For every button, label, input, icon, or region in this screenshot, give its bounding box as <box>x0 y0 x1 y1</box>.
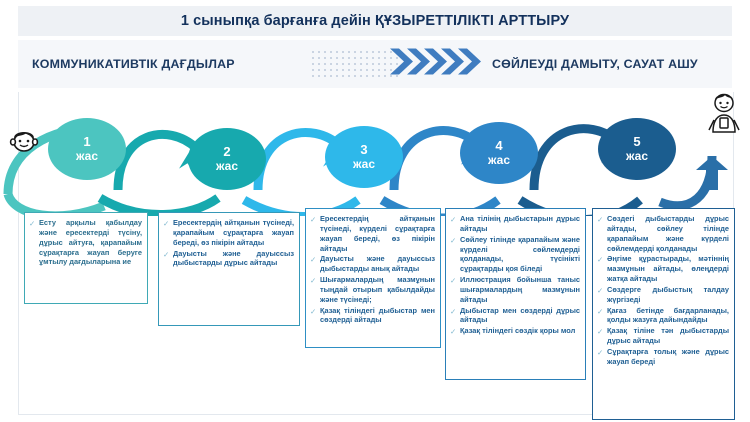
stage-number: 4 <box>495 139 502 154</box>
list-item: ✓ Сұрақтарға толық және дұрыс жауап бере… <box>597 347 729 367</box>
check-tick-icon: ✓ <box>29 219 37 228</box>
bullet-text: Дыбыстар мен сөздерді дұрыс айтады <box>460 306 580 326</box>
check-tick-icon: ✓ <box>597 348 605 357</box>
list-item: ✓ Есту арқылы қабылдау және ересектерді … <box>29 218 142 267</box>
check-tick-icon: ✓ <box>310 255 318 264</box>
check-tick-icon: ✓ <box>597 255 605 264</box>
check-tick-icon: ✓ <box>163 219 171 228</box>
check-tick-icon: ✓ <box>163 250 171 259</box>
stage-circle-5: 5 жас <box>598 118 676 180</box>
subtitle-bar: КОММУНИКАТИВТІК ДАҒДЫЛАР СӨЙЛЕУДІ ДАМЫТУ… <box>18 40 732 88</box>
bullet-text: Қағаз бетінде бағдарланады, қолды жазуға… <box>607 306 729 326</box>
bullet-text: Ересектердің айтқанын түсінеді, күрделі … <box>320 214 435 253</box>
stage-unit: жас <box>76 150 98 164</box>
check-tick-icon: ✓ <box>597 307 605 316</box>
stage-circle-1: 1 жас <box>48 118 126 180</box>
stage-number: 2 <box>223 145 230 160</box>
stage-detail-box-5: ✓ Сөздегі дыбыстарды дұрыс айтады, сөйле… <box>592 208 735 420</box>
bullet-text: Сұрақтарға толық және дұрыс жауап береді <box>607 347 729 367</box>
stage-number: 5 <box>633 135 640 150</box>
list-item: ✓ Ересектердің айтқанын түсінеді, қарапа… <box>163 218 294 248</box>
check-tick-icon: ✓ <box>310 276 318 285</box>
bullet-text: Ана тілінің дыбыстарын дұрыс айтады <box>460 214 580 234</box>
list-item: ✓ Шығармалардың мазмұнын тыңдай отырып қ… <box>310 275 435 305</box>
bullet-text: Иллюстрация бойынша таныс шығармалардың … <box>460 275 580 305</box>
subtitle-left-label: КОММУНИКАТИВТІК ДАҒДЫЛАР <box>32 57 235 71</box>
bullet-text: Қазақ тіліндегі сөздік қоры мол <box>460 326 580 336</box>
chevron-right-icon <box>390 47 490 82</box>
bullet-text: Сөйлеу тілінде қарапайым және күрделі сө… <box>460 235 580 274</box>
bullet-text: Дауысты және дауыссыз дыбыстарды анық ай… <box>320 254 435 274</box>
child-face-icon <box>6 122 42 163</box>
bullet-text: Сөздегі дыбыстарды дұрыс айтады, сөйлеу … <box>607 214 729 253</box>
check-tick-icon: ✓ <box>597 327 605 336</box>
list-item: ✓ Дауысты және дауыссыз дыбыстарды анық … <box>310 254 435 274</box>
stage-detail-box-3: ✓ Ересектердің айтқанын түсінеді, күрдел… <box>305 208 441 348</box>
stage-circle-2: 2 жас <box>188 128 266 190</box>
bullet-text: Есту арқылы қабылдау және ересектерді тү… <box>39 218 142 267</box>
page-title: 1 сыныпқа барғанға дейін ҚҰЗЫРЕТТІЛІКТІ … <box>181 13 569 29</box>
check-tick-icon: ✓ <box>450 307 458 316</box>
bullet-text: Әңгіме құрастырады, мәтіннің мазмұнын ай… <box>607 254 729 284</box>
stage-number: 3 <box>360 143 367 158</box>
infographic-canvas: 1 сыныпқа барғанға дейін ҚҰЗЫРЕТТІЛІКТІ … <box>0 0 750 422</box>
list-item: ✓ Сөйлеу тілінде қарапайым және күрделі … <box>450 235 580 274</box>
bullet-text: Ересектердің айтқанын түсінеді, қарапайы… <box>173 218 294 248</box>
bullet-text: Шығармалардың мазмұнын тыңдай отырып қаб… <box>320 275 435 305</box>
list-item: ✓ Қазақ тіліндегі сөздік қоры мол <box>450 326 580 336</box>
list-item: ✓ Иллюстрация бойынша таныс шығармаларды… <box>450 275 580 305</box>
check-tick-icon: ✓ <box>597 215 605 224</box>
check-tick-icon: ✓ <box>450 327 458 336</box>
check-tick-icon: ✓ <box>450 236 458 245</box>
subtitle-right-label: СӨЙЛЕУДІ ДАМЫТУ, САУАТ АШУ <box>492 57 698 71</box>
list-item: ✓ Қазақ тіліне тән дыбыстарды дұрыс айта… <box>597 326 729 346</box>
list-item: ✓ Сөздегі дыбыстарды дұрыс айтады, сөйле… <box>597 214 729 253</box>
list-item: ✓ Ана тілінің дыбыстарын дұрыс айтады <box>450 214 580 234</box>
schoolchild-icon <box>704 90 744 139</box>
stage-number: 1 <box>83 135 90 150</box>
stage-detail-box-2: ✓ Ересектердің айтқанын түсінеді, қарапа… <box>158 212 300 326</box>
list-item: ✓ Дауысты және дауыссыз дыбыстарды дұрыс… <box>163 249 294 269</box>
list-item: ✓ Қағаз бетінде бағдарланады, қолды жазу… <box>597 306 729 326</box>
stage-unit: жас <box>216 160 238 174</box>
check-tick-icon: ✓ <box>597 286 605 295</box>
stage-unit: жас <box>488 154 510 168</box>
check-tick-icon: ✓ <box>450 276 458 285</box>
stage-circle-3: 3 жас <box>325 126 403 188</box>
stage-unit: жас <box>626 150 648 164</box>
bullet-text: Қазақ тіліндегі дыбыстар мен сөздерді ай… <box>320 306 435 326</box>
check-tick-icon: ✓ <box>450 215 458 224</box>
list-item: ✓ Сөздерге дыбыстық талдау жүргізеді <box>597 285 729 305</box>
check-tick-icon: ✓ <box>310 307 318 316</box>
title-bar: 1 сыныпқа барғанға дейін ҚҰЗЫРЕТТІЛІКТІ … <box>18 6 732 36</box>
list-item: ✓ Қазақ тіліндегі дыбыстар мен сөздерді … <box>310 306 435 326</box>
dot-pattern-decoration <box>310 49 398 79</box>
stage-detail-box-1: ✓ Есту арқылы қабылдау және ересектерді … <box>24 212 148 304</box>
stage-detail-box-4: ✓ Ана тілінің дыбыстарын дұрыс айтады ✓ … <box>445 208 586 380</box>
list-item: ✓ Әңгіме құрастырады, мәтіннің мазмұнын … <box>597 254 729 284</box>
list-item: ✓ Дыбыстар мен сөздерді дұрыс айтады <box>450 306 580 326</box>
bullet-text: Дауысты және дауыссыз дыбыстарды дұрыс а… <box>173 249 294 269</box>
stage-circle-4: 4 жас <box>460 122 538 184</box>
bullet-text: Қазақ тіліне тән дыбыстарды дұрыс айтады <box>607 326 729 346</box>
bullet-text: Сөздерге дыбыстық талдау жүргізеді <box>607 285 729 305</box>
stage-unit: жас <box>353 158 375 172</box>
list-item: ✓ Ересектердің айтқанын түсінеді, күрдел… <box>310 214 435 253</box>
check-tick-icon: ✓ <box>310 215 318 224</box>
